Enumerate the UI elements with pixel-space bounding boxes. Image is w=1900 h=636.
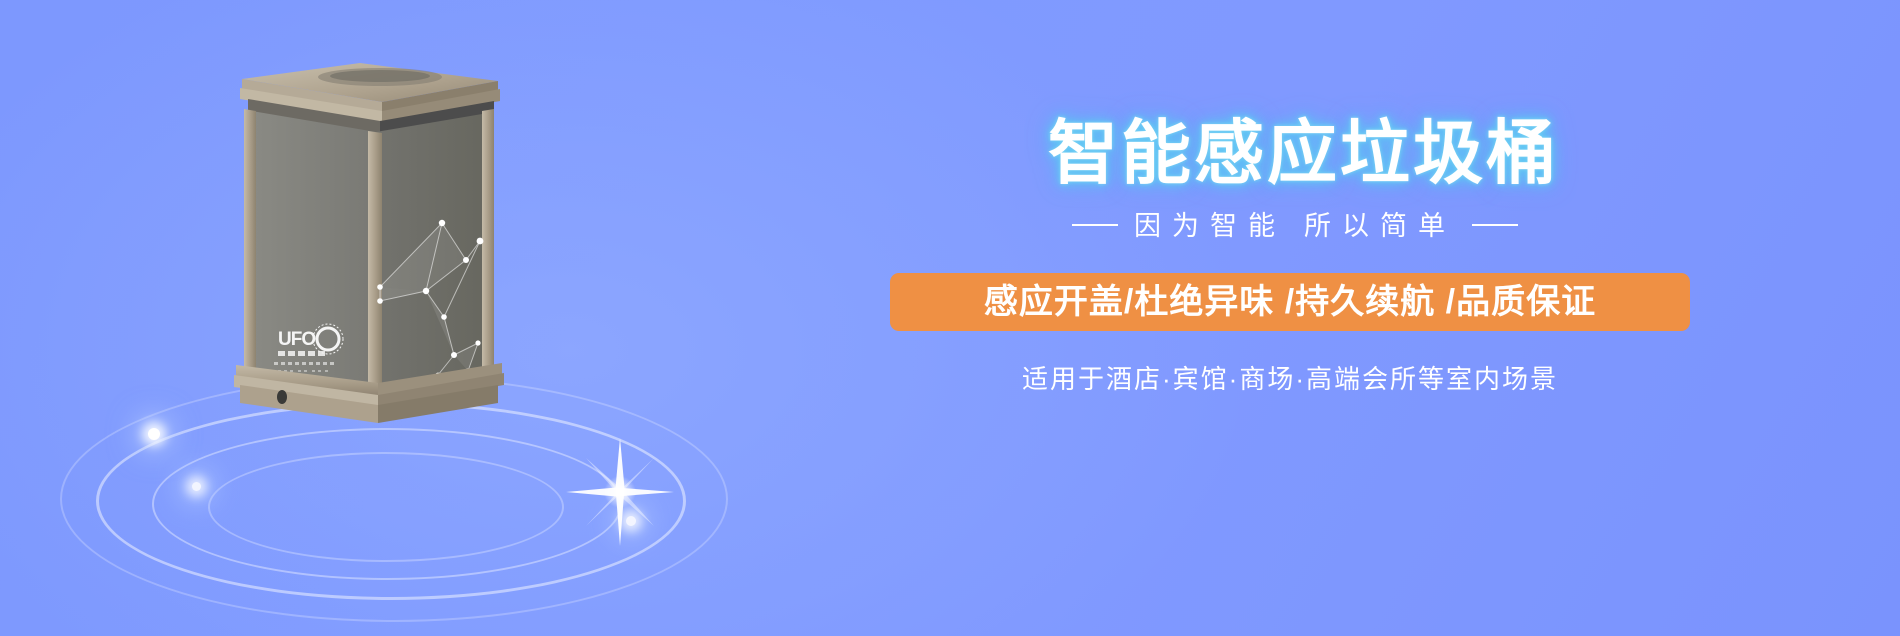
subtitle-rule-left: [1072, 224, 1118, 226]
ripple-ring-3: [208, 452, 564, 562]
glow-dot-icon: [192, 482, 201, 491]
product-stage: UFO: [0, 0, 860, 636]
trash-bin-illustration: UFO: [230, 55, 510, 430]
subtitle-rule-right: [1472, 224, 1518, 226]
subtitle-part-one: 因为智能: [1134, 211, 1286, 241]
glow-dot-icon: [148, 428, 160, 440]
svg-text:UFO: UFO: [278, 329, 315, 350]
subtitle: 因为智能所以简单: [880, 213, 1710, 240]
subtitle-part-two: 所以简单: [1304, 211, 1456, 241]
copy-block: 智能感应垃圾桶 因为智能所以简单 感应开盖/杜绝异味 /持久续航 /品质保证 适…: [880, 0, 1880, 636]
promo-banner: UFO: [0, 0, 1900, 636]
use-case-caption: 适用于酒店·宾馆·商场·高端会所等室内场景: [880, 366, 1700, 392]
feature-badge: 感应开盖/杜绝异味 /持久续航 /品质保证: [890, 273, 1690, 331]
page-title: 智能感应垃圾桶: [1048, 118, 1559, 188]
glow-dot-icon: [626, 516, 636, 526]
feature-badge-label: 感应开盖/杜绝异味 /持久续航 /品质保证: [984, 285, 1596, 319]
